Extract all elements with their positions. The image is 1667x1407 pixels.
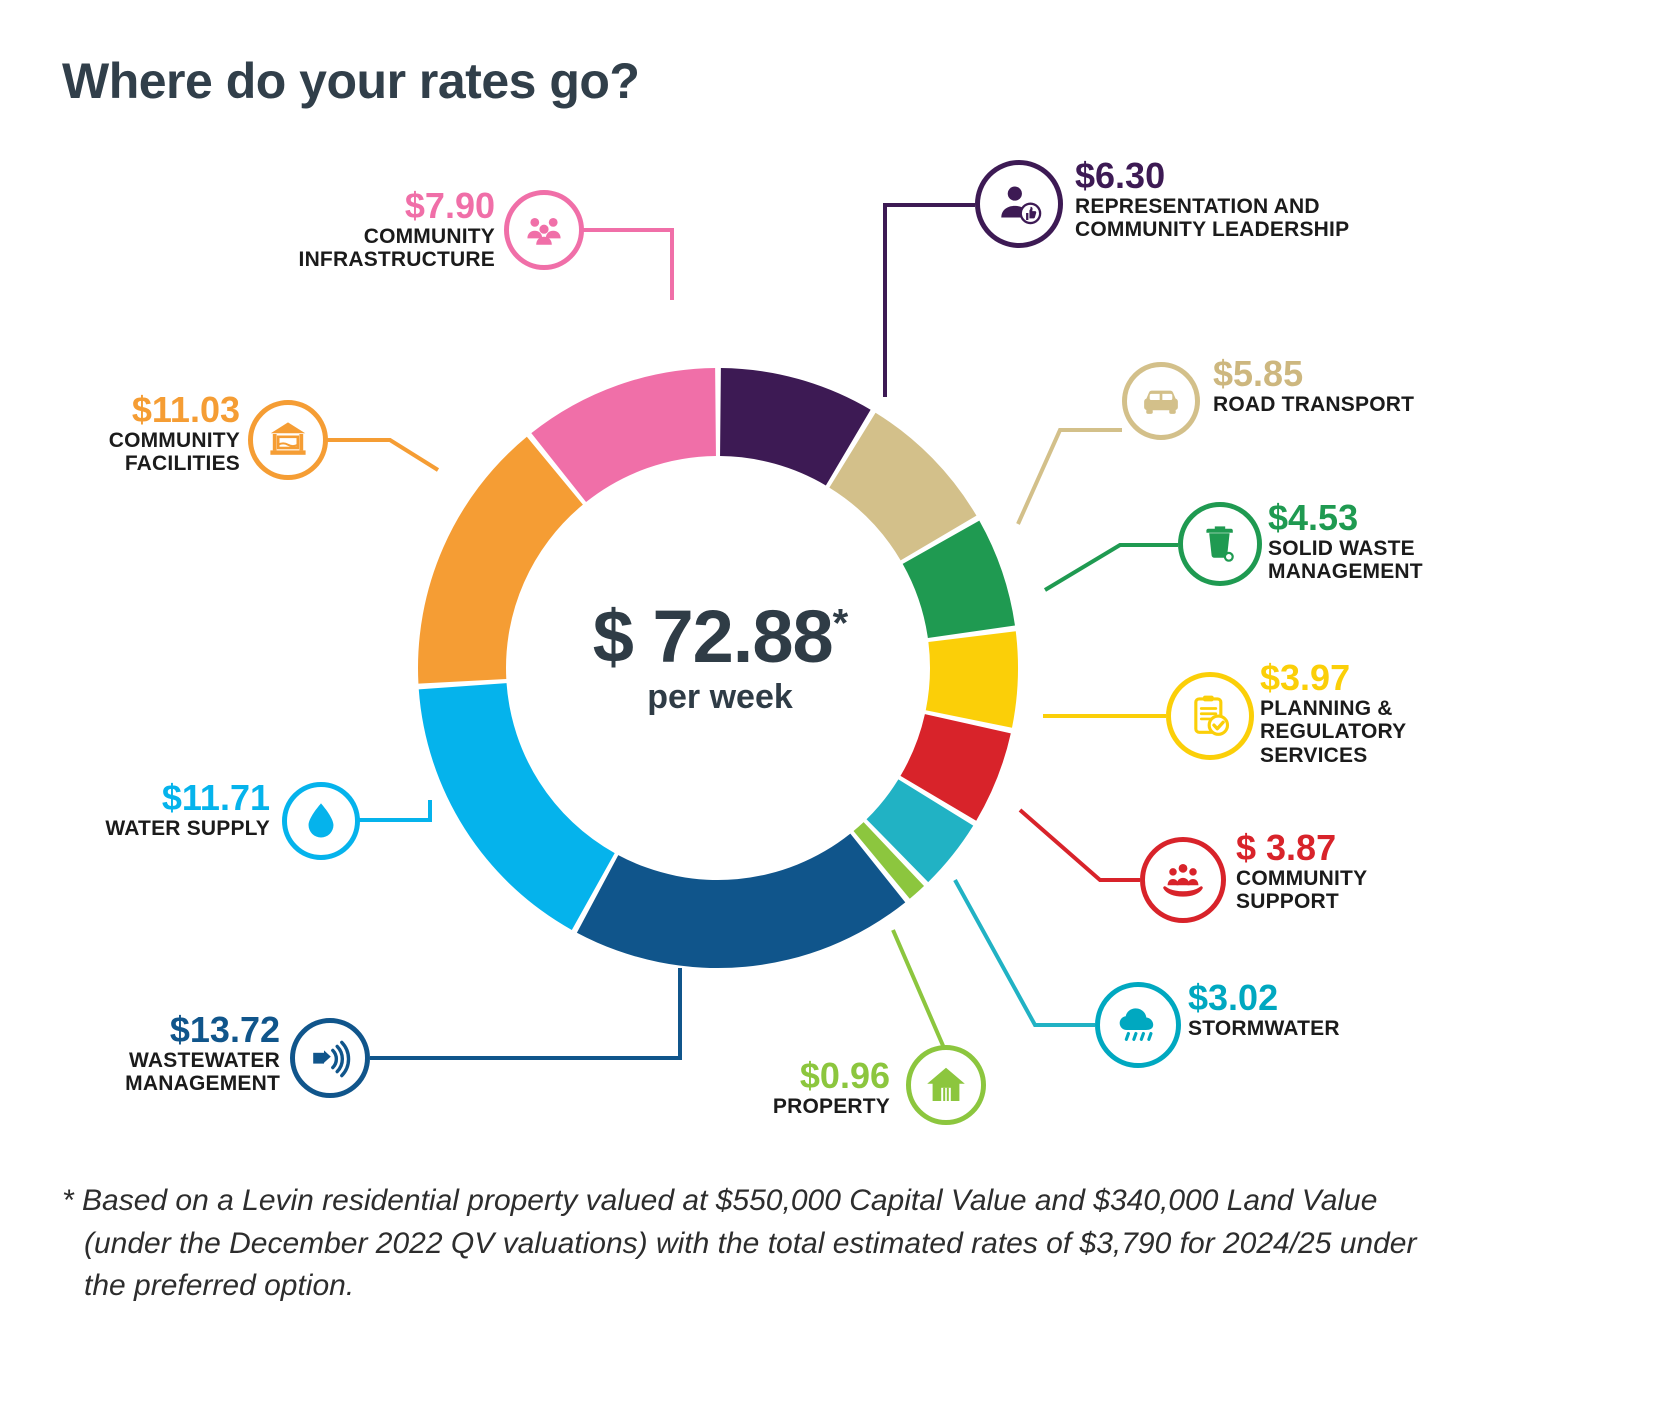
car-icon (1138, 378, 1184, 424)
rain-cloud-icon (1113, 1000, 1163, 1050)
pipe-flow-icon (306, 1034, 354, 1082)
amount-planning: $3.97 (1260, 660, 1406, 697)
name-representation-l2: COMMUNITY LEADERSHIP (1075, 218, 1349, 242)
icon-badge-solid-waste[interactable] (1178, 502, 1262, 586)
icon-badge-community-infrastructure[interactable] (504, 190, 584, 270)
name-water-supply-l1: WATER SUPPLY (20, 817, 270, 841)
amount-community-facilities: $11.03 (0, 392, 240, 429)
label-solid-waste: $4.53 SOLID WASTE MANAGEMENT (1268, 500, 1423, 584)
footnote-line-3: the preferred option. (62, 1265, 1582, 1308)
amount-community-infrastructure: $7.90 (245, 188, 495, 225)
icon-badge-stormwater[interactable] (1095, 982, 1181, 1068)
name-community-facilities-l1: COMMUNITY (0, 429, 240, 453)
donut-segment-water_supply[interactable] (419, 683, 615, 930)
amount-solid-waste: $4.53 (1268, 500, 1423, 537)
label-water-supply: $11.71 WATER SUPPLY (20, 780, 270, 840)
person-thumbsup-icon (994, 179, 1044, 229)
leader-community-support (1020, 810, 1140, 880)
label-property: $0.96 PROPERTY (650, 1058, 890, 1118)
label-wastewater: $13.72 WASTEWATER MANAGEMENT (30, 1012, 280, 1096)
wheelie-bin-icon (1196, 520, 1244, 568)
label-road-transport: $5.85 ROAD TRANSPORT (1213, 356, 1414, 416)
people-hand-icon (1158, 855, 1208, 905)
amount-water-supply: $11.71 (20, 780, 270, 817)
name-wastewater-l2: MANAGEMENT (30, 1072, 280, 1096)
label-community-facilities: $11.03 COMMUNITY FACILITIES (0, 392, 240, 476)
name-planning-l1: PLANNING & (1260, 697, 1406, 721)
people-group-icon (520, 206, 568, 254)
footnote-line-2: (under the December 2022 QV valuations) … (62, 1223, 1582, 1266)
house-icon (922, 1061, 970, 1109)
name-planning-l3: SERVICES (1260, 744, 1406, 768)
icon-badge-wastewater[interactable] (290, 1018, 370, 1098)
name-solid-waste-l1: SOLID WASTE (1268, 537, 1423, 561)
name-community-support-l2: SUPPORT (1236, 890, 1367, 914)
label-planning: $3.97 PLANNING & REGULATORY SERVICES (1260, 660, 1406, 767)
label-representation: $6.30 REPRESENTATION AND COMMUNITY LEADE… (1075, 158, 1349, 242)
name-community-infrastructure-l1: COMMUNITY (245, 225, 495, 249)
icon-badge-representation[interactable] (975, 160, 1063, 248)
leader-community-facilities (322, 440, 438, 470)
name-solid-waste-l2: MANAGEMENT (1268, 560, 1423, 584)
leader-road-transport (1018, 430, 1122, 524)
footnote-line-1: * Based on a Levin residential property … (62, 1180, 1582, 1223)
leader-community-infrastructure (580, 230, 672, 300)
label-stormwater: $3.02 STORMWATER (1188, 980, 1340, 1040)
icon-badge-community-support[interactable] (1140, 837, 1226, 923)
leader-representation (885, 205, 975, 397)
name-wastewater-l1: WASTEWATER (30, 1049, 280, 1073)
name-property-l1: PROPERTY (650, 1095, 890, 1119)
center-total-value: $ 72.88 (593, 595, 833, 678)
leader-stormwater (955, 880, 1095, 1025)
donut-segment-wastewater[interactable] (577, 834, 905, 968)
name-community-infrastructure-l2: INFRASTRUCTURE (245, 248, 495, 272)
name-road-transport-l1: ROAD TRANSPORT (1213, 393, 1414, 417)
center-total: $ 72.88* (500, 600, 940, 674)
center-asterisk: * (833, 601, 848, 645)
clipboard-check-icon (1185, 691, 1235, 741)
name-representation-l1: REPRESENTATION AND (1075, 195, 1349, 219)
amount-wastewater: $13.72 (30, 1012, 280, 1049)
footnote: * Based on a Levin residential property … (62, 1180, 1582, 1308)
icon-badge-planning[interactable] (1166, 672, 1254, 760)
name-community-support-l1: COMMUNITY (1236, 867, 1367, 891)
amount-road-transport: $5.85 (1213, 356, 1414, 393)
center-subtitle: per week (500, 678, 940, 717)
label-community-infrastructure: $7.90 COMMUNITY INFRASTRUCTURE (245, 188, 495, 272)
water-drop-icon (299, 799, 343, 843)
icon-badge-community-facilities[interactable] (248, 400, 328, 480)
library-building-icon (264, 416, 312, 464)
amount-community-support: $ 3.87 (1236, 830, 1367, 867)
amount-representation: $6.30 (1075, 158, 1349, 195)
name-planning-l2: REGULATORY (1260, 720, 1406, 744)
icon-badge-road-transport[interactable] (1122, 362, 1200, 440)
leader-wastewater (370, 968, 680, 1058)
leader-solid-waste (1045, 545, 1178, 590)
icon-badge-property[interactable] (906, 1045, 986, 1125)
name-stormwater-l1: STORMWATER (1188, 1017, 1340, 1041)
amount-stormwater: $3.02 (1188, 980, 1340, 1017)
label-community-support: $ 3.87 COMMUNITY SUPPORT (1236, 830, 1367, 914)
name-community-facilities-l2: FACILITIES (0, 452, 240, 476)
amount-property: $0.96 (650, 1058, 890, 1095)
icon-badge-water-supply[interactable] (282, 782, 360, 860)
